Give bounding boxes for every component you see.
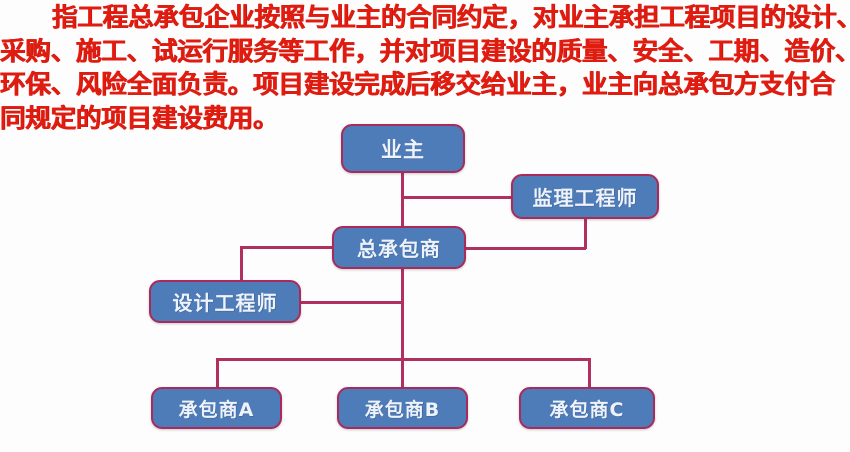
node-general-contractor[interactable]: 总承包商 [332,226,466,269]
connector-drop-contractor-c [588,358,591,387]
node-contractor-c[interactable]: 承包商C [519,387,655,429]
connector-owner-to-supervisor [401,196,513,199]
connector-general-contractor-spine [401,268,404,360]
org-chart: 业主 监理工程师 总承包商 设计工程师 承包商A 承包商B 承包商C [0,0,850,452]
node-design-engineer[interactable]: 设计工程师 [149,280,301,323]
connector-drop-contractor-a [216,358,219,387]
connector-supervisor-to-general-contractor [466,247,586,250]
node-owner[interactable]: 业主 [341,124,465,173]
connector-design-engineer-to-gc [240,246,333,249]
connector-drop-contractor-b [401,358,404,387]
node-supervisor[interactable]: 监理工程师 [511,174,659,219]
connector-owner-to-general-contractor [401,173,404,226]
slide-canvas: 指工程总承包企业按照与业主的合同约定，对业主承担工程项目的设计、 采购、施工、试… [0,0,850,452]
node-contractor-a[interactable]: 承包商A [151,387,282,429]
connector-supervisor-down [584,219,587,249]
node-contractor-b[interactable]: 承包商B [337,387,468,429]
